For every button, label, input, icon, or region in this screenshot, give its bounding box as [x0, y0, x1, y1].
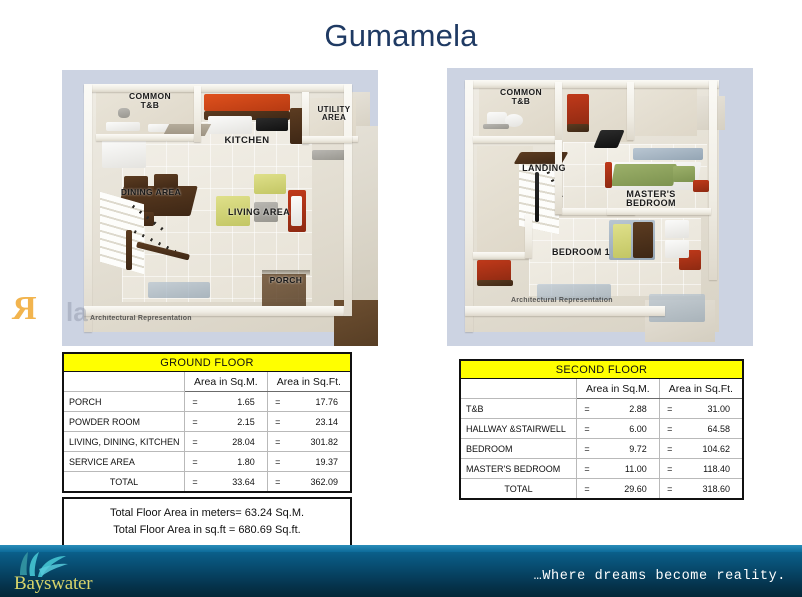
ground-floor-area-table: GROUND FLOOR Area in Sq.M. Area in Sq.Ft… [62, 352, 352, 493]
plan2-label-common-tb: COMMON T&B [481, 88, 561, 106]
total-area-sqft: Total Floor Area in sq.ft = 680.69 Sq.ft… [64, 522, 350, 539]
table-total-row: TOTAL = 29.60 = 318.60 [460, 479, 743, 500]
table-row: BEDROOM = 9.72 = 104.62 [460, 439, 743, 459]
row-sqm-value: 2.88 [597, 399, 659, 419]
ground-table-title: GROUND FLOOR [63, 353, 351, 372]
row-sqm-eq: = [185, 412, 206, 432]
row-sqft-eq: = [659, 399, 680, 419]
total-area-meters: Total Floor Area in meters= 63.24 Sq.M. [64, 505, 350, 522]
plan2-label-masters-bedroom: MASTER'S BEDROOM [609, 190, 693, 209]
row-sqm-eq: = [185, 472, 206, 493]
row-sqft-eq: = [267, 392, 288, 412]
row-sqft-value: 64.58 [680, 419, 743, 439]
plan-label-porch: PORCH [260, 276, 312, 285]
row-sqft-value: 318.60 [680, 479, 743, 500]
row-sqft-eq: = [267, 472, 288, 493]
col-header-blank [63, 372, 185, 392]
ground-floor-plan-image: COMMON T&B KITCHEN UTILITY AREA DINING A… [62, 70, 378, 346]
row-sqm-value: 2.15 [205, 412, 267, 432]
row-sqm-value: 1.80 [205, 452, 267, 472]
row-sqft-value: 31.00 [680, 399, 743, 419]
slide-canvas: Gumamela R [0, 0, 802, 597]
row-sqft-value: 104.62 [680, 439, 743, 459]
table-title-row: SECOND FLOOR [460, 360, 743, 379]
row-sqm-eq: = [577, 399, 598, 419]
col-header-blank [460, 379, 577, 399]
table-row: LIVING, DINING, KITCHEN = 28.04 = 301.82 [63, 432, 351, 452]
plan-label-kitchen: KITCHEN [202, 136, 292, 146]
footer-tagline: …Where dreams become reality. [534, 569, 786, 584]
page-title: Gumamela [0, 18, 802, 54]
footer-bar: Bayswater …Where dreams become reality. [0, 545, 802, 597]
second-floor-area-table: SECOND FLOOR Area in Sq.M. Area in Sq.Ft… [459, 359, 744, 500]
row-sqft-value: 301.82 [288, 432, 351, 452]
row-label: SERVICE AREA [63, 452, 185, 472]
watermark-r-logo: R [12, 290, 37, 328]
second-table-title: SECOND FLOOR [460, 360, 743, 379]
row-sqm-value: 1.65 [205, 392, 267, 412]
row-label: POWDER ROOM [63, 412, 185, 432]
row-sqft-eq: = [659, 479, 680, 500]
table-row: SERVICE AREA = 1.80 = 19.37 [63, 452, 351, 472]
row-sqm-eq: = [577, 459, 598, 479]
row-label: TOTAL [460, 479, 577, 500]
row-sqm-eq: = [185, 432, 206, 452]
row-sqm-value: 6.00 [597, 419, 659, 439]
row-sqft-value: 23.14 [288, 412, 351, 432]
plan-label-living-area: LIVING AREA [220, 208, 298, 217]
row-sqm-eq: = [577, 439, 598, 459]
total-floor-area-box: Total Floor Area in meters= 63.24 Sq.M. … [62, 497, 352, 548]
row-sqm-value: 9.72 [597, 439, 659, 459]
table-total-row: TOTAL = 33.64 = 362.09 [63, 472, 351, 493]
row-sqm-eq: = [577, 479, 598, 500]
row-label: TOTAL [63, 472, 185, 493]
row-sqft-eq: = [659, 419, 680, 439]
row-sqm-value: 33.64 [205, 472, 267, 493]
row-sqft-value: 362.09 [288, 472, 351, 493]
row-sqm-value: 11.00 [597, 459, 659, 479]
ground-floor-plan-render: COMMON T&B KITCHEN UTILITY AREA DINING A… [62, 70, 378, 346]
table-row: POWDER ROOM = 2.15 = 23.14 [63, 412, 351, 432]
row-label: BEDROOM [460, 439, 577, 459]
plan-label-utility-area: UTILITY AREA [306, 106, 362, 123]
row-label: HALLWAY &STAIRWELL [460, 419, 577, 439]
ground-floor-area-table-wrap: GROUND FLOOR Area in Sq.M. Area in Sq.Ft… [62, 352, 352, 548]
table-row: PORCH = 1.65 = 17.76 [63, 392, 351, 412]
plan-label-dining-area: DINING AREA [110, 188, 192, 197]
row-sqft-eq: = [659, 439, 680, 459]
table-row: T&B = 2.88 = 31.00 [460, 399, 743, 419]
row-sqm-eq: = [577, 419, 598, 439]
row-sqm-value: 29.60 [597, 479, 659, 500]
row-sqft-eq: = [267, 432, 288, 452]
row-sqft-value: 118.40 [680, 459, 743, 479]
row-label: PORCH [63, 392, 185, 412]
row-label: MASTER'S BEDROOM [460, 459, 577, 479]
table-header-row: Area in Sq.M. Area in Sq.Ft. [460, 379, 743, 399]
row-sqm-value: 28.04 [205, 432, 267, 452]
table-row: MASTER'S BEDROOM = 11.00 = 118.40 [460, 459, 743, 479]
second-floor-plan-image: COMMON T&B LANDING MASTER'S BEDROOM BEDR… [447, 68, 753, 346]
plan-image-watermark: la [66, 297, 88, 328]
col-header-sqm: Area in Sq.M. [577, 379, 660, 399]
row-sqft-eq: = [659, 459, 680, 479]
row-sqft-eq: = [267, 452, 288, 472]
ground-plan-caption: Architectural Representation [90, 315, 192, 322]
col-header-sqft: Area in Sq.Ft. [659, 379, 743, 399]
row-sqm-eq: = [185, 392, 206, 412]
row-sqft-value: 19.37 [288, 452, 351, 472]
col-header-sqft: Area in Sq.Ft. [267, 372, 351, 392]
second-plan-caption: Architectural Representation [511, 297, 613, 304]
plan2-label-bedroom-1: BEDROOM 1 [543, 248, 619, 257]
bayswater-logo[interactable]: Bayswater [6, 547, 126, 597]
bayswater-wordmark: Bayswater [14, 573, 92, 595]
row-sqft-eq: = [267, 412, 288, 432]
row-label: T&B [460, 399, 577, 419]
row-sqft-value: 17.76 [288, 392, 351, 412]
plan-label-common-tb: COMMON T&B [108, 92, 192, 110]
row-sqm-eq: = [185, 452, 206, 472]
table-title-row: GROUND FLOOR [63, 353, 351, 372]
table-header-row: Area in Sq.M. Area in Sq.Ft. [63, 372, 351, 392]
plan2-label-landing: LANDING [511, 164, 577, 173]
col-header-sqm: Area in Sq.M. [185, 372, 268, 392]
second-floor-area-table-wrap: SECOND FLOOR Area in Sq.M. Area in Sq.Ft… [459, 359, 744, 500]
row-label: LIVING, DINING, KITCHEN [63, 432, 185, 452]
second-floor-plan-render: COMMON T&B LANDING MASTER'S BEDROOM BEDR… [447, 68, 753, 346]
table-row: HALLWAY &STAIRWELL = 6.00 = 64.58 [460, 419, 743, 439]
